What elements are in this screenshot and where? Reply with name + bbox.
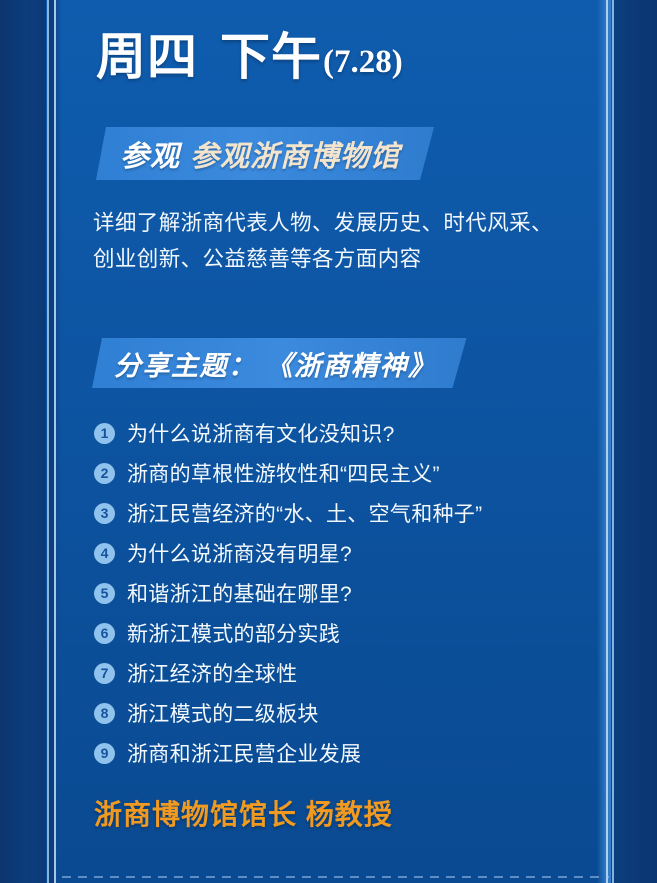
visit-banner-target: 参观浙商博物馆 (190, 133, 400, 175)
title-period: 下午 (220, 32, 322, 82)
visit-banner-label: 参观 (120, 133, 180, 175)
bottom-dashed-rule (62, 876, 609, 878)
list-item-number-badge: 9 (94, 743, 115, 764)
list-item: 7浙江经济的全球性 (94, 653, 599, 693)
list-item: 1为什么说浙商有文化没知识? (94, 413, 599, 453)
page-title: 周四 下午 (7.28) (96, 32, 403, 82)
list-item: 2浙商的草根性游牧性和“四民主义” (94, 453, 599, 493)
list-item-label: 浙江经济的全球性 (127, 658, 297, 688)
topic-banner: 分享主题： 《浙商精神》 (92, 338, 467, 388)
list-item: 9浙商和浙江民营企业发展 (94, 733, 599, 773)
list-item-number-badge: 6 (94, 623, 115, 644)
title-day: 周四 (96, 32, 198, 82)
topic-banner-text: 分享主题： 《浙商精神》 (114, 344, 437, 383)
topic-list: 1为什么说浙商有文化没知识?2浙商的草根性游牧性和“四民主义”3浙江民营经济的“… (94, 413, 599, 773)
list-item: 8浙江模式的二级板块 (94, 693, 599, 733)
list-item-label: 浙江模式的二级板块 (127, 698, 319, 728)
left-edge-dark-band (0, 0, 46, 883)
list-item: 5和谐浙江的基础在哪里? (94, 573, 599, 613)
visit-description: 详细了解浙商代表人物、发展历史、时代风采、 创业创新、公益慈善等各方面内容 (93, 205, 593, 277)
poster-root: 周四 下午 (7.28) 参观 参观浙商博物馆 详细了解浙商代表人物、发展历史、… (0, 0, 657, 883)
list-item: 4为什么说浙商没有明星? (94, 533, 599, 573)
list-item: 6新浙江模式的部分实践 (94, 613, 599, 653)
description-line-1: 详细了解浙商代表人物、发展历史、时代风采、 (93, 205, 593, 241)
title-date: (7.28) (323, 46, 403, 82)
list-item-label: 新浙江模式的部分实践 (127, 618, 340, 648)
list-item-number-badge: 7 (94, 663, 115, 684)
speaker-name: 浙商博物馆馆长 杨教授 (94, 793, 393, 833)
content-column: 周四 下午 (7.28) 参观 参观浙商博物馆 详细了解浙商代表人物、发展历史、… (62, 0, 607, 883)
list-item-label: 为什么说浙商有文化没知识? (127, 418, 395, 448)
list-item-label: 为什么说浙商没有明星? (127, 538, 352, 568)
list-item-label: 浙商和浙江民营企业发展 (127, 738, 361, 768)
list-item-label: 浙商的草根性游牧性和“四民主义” (127, 458, 440, 488)
list-item-number-badge: 8 (94, 703, 115, 724)
list-item-number-badge: 5 (94, 583, 115, 604)
list-item-number-badge: 2 (94, 463, 115, 484)
list-item-number-badge: 3 (94, 503, 115, 524)
list-item-number-badge: 4 (94, 543, 115, 564)
list-item: 3浙江民营经济的“水、土、空气和种子” (94, 493, 599, 533)
visit-banner: 参观 参观浙商博物馆 (96, 127, 434, 180)
list-item-label: 和谐浙江的基础在哪里? (127, 578, 352, 608)
description-line-2: 创业创新、公益慈善等各方面内容 (93, 241, 593, 277)
list-item-number-badge: 1 (94, 423, 115, 444)
list-item-label: 浙江民营经济的“水、土、空气和种子” (127, 498, 482, 528)
right-edge-dark-band (614, 0, 657, 883)
